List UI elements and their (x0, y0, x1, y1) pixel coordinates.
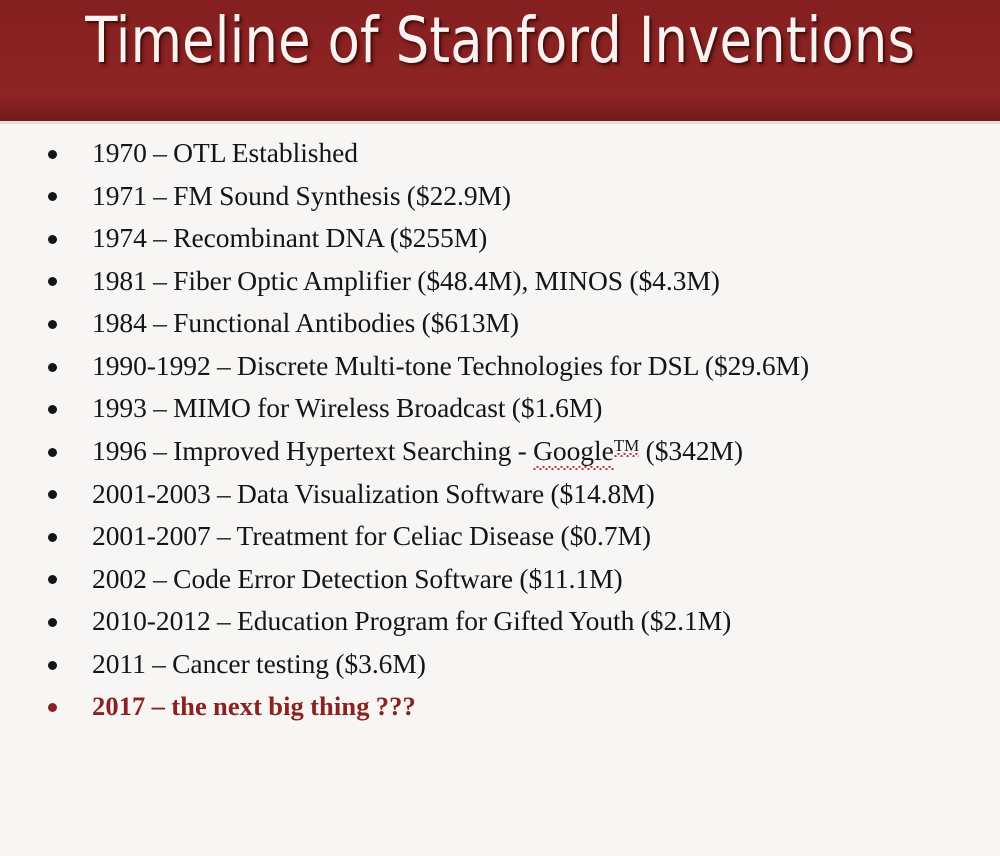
slide-title-banner: Timeline of Stanford Inventions (0, 0, 1000, 121)
list-item-label: 2011 – Cancer testing ($3.6M) (92, 648, 426, 679)
bullet-icon (48, 575, 57, 584)
list-item-label: 1993 – MIMO for Wireless Broadcast ($1.6… (92, 392, 602, 423)
list-item-highlighted: 2017 – the next big thing ??? (0, 691, 1000, 722)
list-item: 1990-1992 – Discrete Multi-tone Technolo… (0, 350, 1000, 383)
list-item: 1970 – OTL Established (0, 137, 1000, 170)
bullet-icon (48, 277, 57, 286)
list-item-label: 1974 – Recombinant DNA ($255M) (92, 222, 487, 253)
page-title: Timeline of Stanford Inventions (85, 0, 915, 72)
list-item-label: 2002 – Code Error Detection Software ($1… (92, 563, 623, 594)
list-item: 2011 – Cancer testing ($3.6M) (0, 648, 1000, 681)
list-item: 2001-2003 – Data Visualization Software … (0, 478, 1000, 511)
list-item: 2001-2007 – Treatment for Celiac Disease… (0, 520, 1000, 553)
list-item-label: 2010-2012 – Education Program for Gifted… (92, 605, 731, 636)
list-item: 1993 – MIMO for Wireless Broadcast ($1.6… (0, 392, 1000, 425)
trademark-wrapper: TM (614, 435, 640, 468)
list-item-google: 1996 – Improved Hypertext Searching - Go… (0, 435, 1000, 468)
list-item: 1984 – Functional Antibodies ($613M) (0, 307, 1000, 340)
bullet-icon (48, 192, 57, 201)
bullet-icon (48, 235, 57, 244)
list-item-label: 2017 – the next big thing ??? (92, 691, 416, 721)
bullet-icon (48, 661, 57, 670)
list-item: 2010-2012 – Education Program for Gifted… (0, 605, 1000, 638)
bullet-icon (48, 703, 57, 712)
bullet-icon (48, 448, 57, 457)
list-item-label: 1971 – FM Sound Synthesis ($22.9M) (92, 180, 511, 211)
list-item-label: 1990-1992 – Discrete Multi-tone Technolo… (92, 350, 809, 381)
invention-timeline-list: 1970 – OTL Established 1971 – FM Sound S… (0, 121, 1000, 732)
bullet-icon (48, 405, 57, 414)
trademark-symbol: TM (614, 436, 640, 455)
bullet-icon (48, 150, 57, 159)
bullet-icon (48, 533, 57, 542)
list-item-label: 1984 – Functional Antibodies ($613M) (92, 307, 519, 338)
list-item: 1974 – Recombinant DNA ($255M) (0, 222, 1000, 255)
list-item-label: 2001-2007 – Treatment for Celiac Disease… (92, 520, 651, 551)
list-item: 2002 – Code Error Detection Software ($1… (0, 563, 1000, 596)
bullet-icon (48, 490, 57, 499)
list-item-label-prefix: 1996 – Improved Hypertext Searching - (92, 435, 533, 466)
list-item-label-suffix: ($342M) (639, 435, 743, 466)
list-item-label: 2001-2003 – Data Visualization Software … (92, 478, 655, 509)
list-item-label: 1970 – OTL Established (92, 137, 358, 168)
bullet-icon (48, 363, 57, 372)
bullet-icon (48, 320, 57, 329)
list-item-label: 1981 – Fiber Optic Amplifier ($48.4M), M… (92, 265, 720, 296)
spellcheck-misspelled-word: Google (533, 435, 614, 468)
bullet-icon (48, 618, 57, 627)
list-item: 1981 – Fiber Optic Amplifier ($48.4M), M… (0, 265, 1000, 298)
list-item: 1971 – FM Sound Synthesis ($22.9M) (0, 180, 1000, 213)
presentation-slide: Timeline of Stanford Inventions 1970 – O… (0, 0, 1000, 856)
